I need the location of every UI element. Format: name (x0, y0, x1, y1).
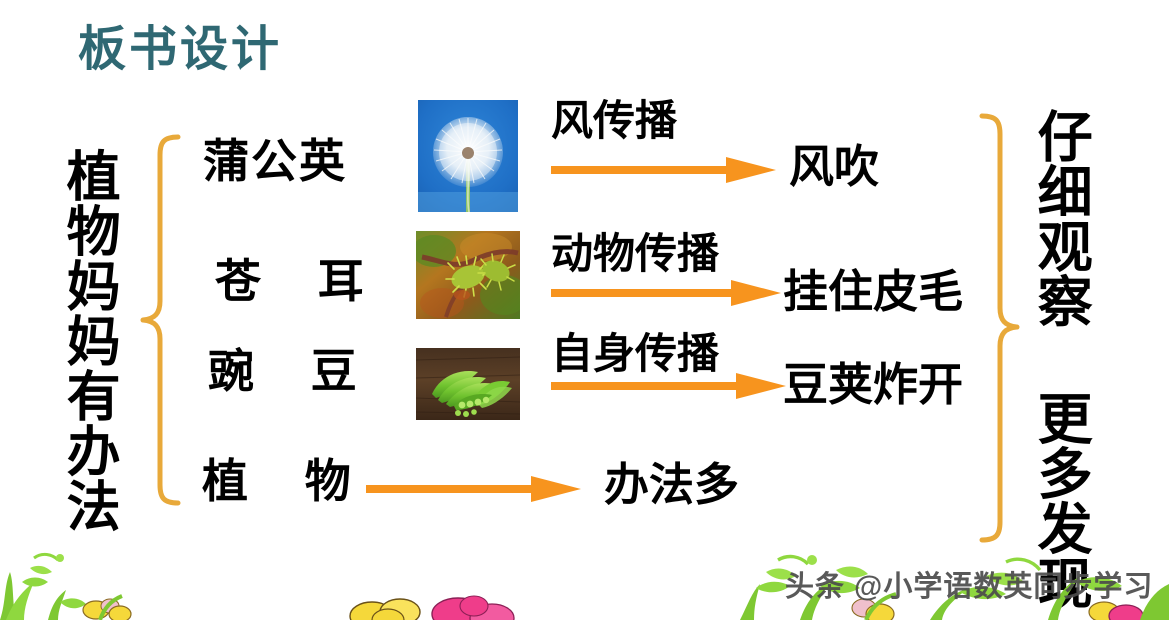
plant-name-3: 植 物 (202, 458, 373, 504)
watermark-text: 头条 @小学语数英同步学习 (785, 563, 1153, 605)
page-title: 板书设计 (78, 24, 282, 77)
arrow-right-icon-2 (551, 371, 786, 401)
curly-brace-left-icon (138, 133, 182, 512)
plant-name-1: 苍 耳 (215, 258, 386, 304)
result-label-3: 办法多 (604, 462, 739, 507)
method-label-0: 风传播 (551, 100, 677, 142)
cocklebur-burrs-photo (416, 231, 520, 319)
arrow-right-icon-1 (551, 278, 781, 308)
blackboard-design-slide: 板书设计 植物妈妈有办法 蒲公英 苍 耳 豌 豆 植 物 (0, 0, 1169, 620)
arrow-right-icon-0 (551, 155, 776, 185)
plant-name-2: 豌 豆 (208, 348, 379, 394)
right-topic-vertical-text: 仔细观察 更多发现 (1032, 108, 1088, 610)
result-label-2: 豆荚炸开 (783, 362, 963, 407)
left-topic-vertical-text: 植物妈妈有办法 (60, 148, 115, 533)
dandelion-seedhead-photo (418, 100, 518, 212)
plant-name-0: 蒲公英 (203, 138, 347, 184)
pea-pods-photo (416, 348, 520, 420)
arrow-right-icon-3 (366, 474, 581, 504)
curly-brace-right-icon (978, 112, 1022, 549)
method-label-1: 动物传播 (551, 233, 719, 275)
result-label-0: 风吹 (789, 144, 879, 189)
method-label-2: 自身传播 (551, 333, 719, 375)
result-label-1: 挂住皮毛 (783, 269, 963, 314)
